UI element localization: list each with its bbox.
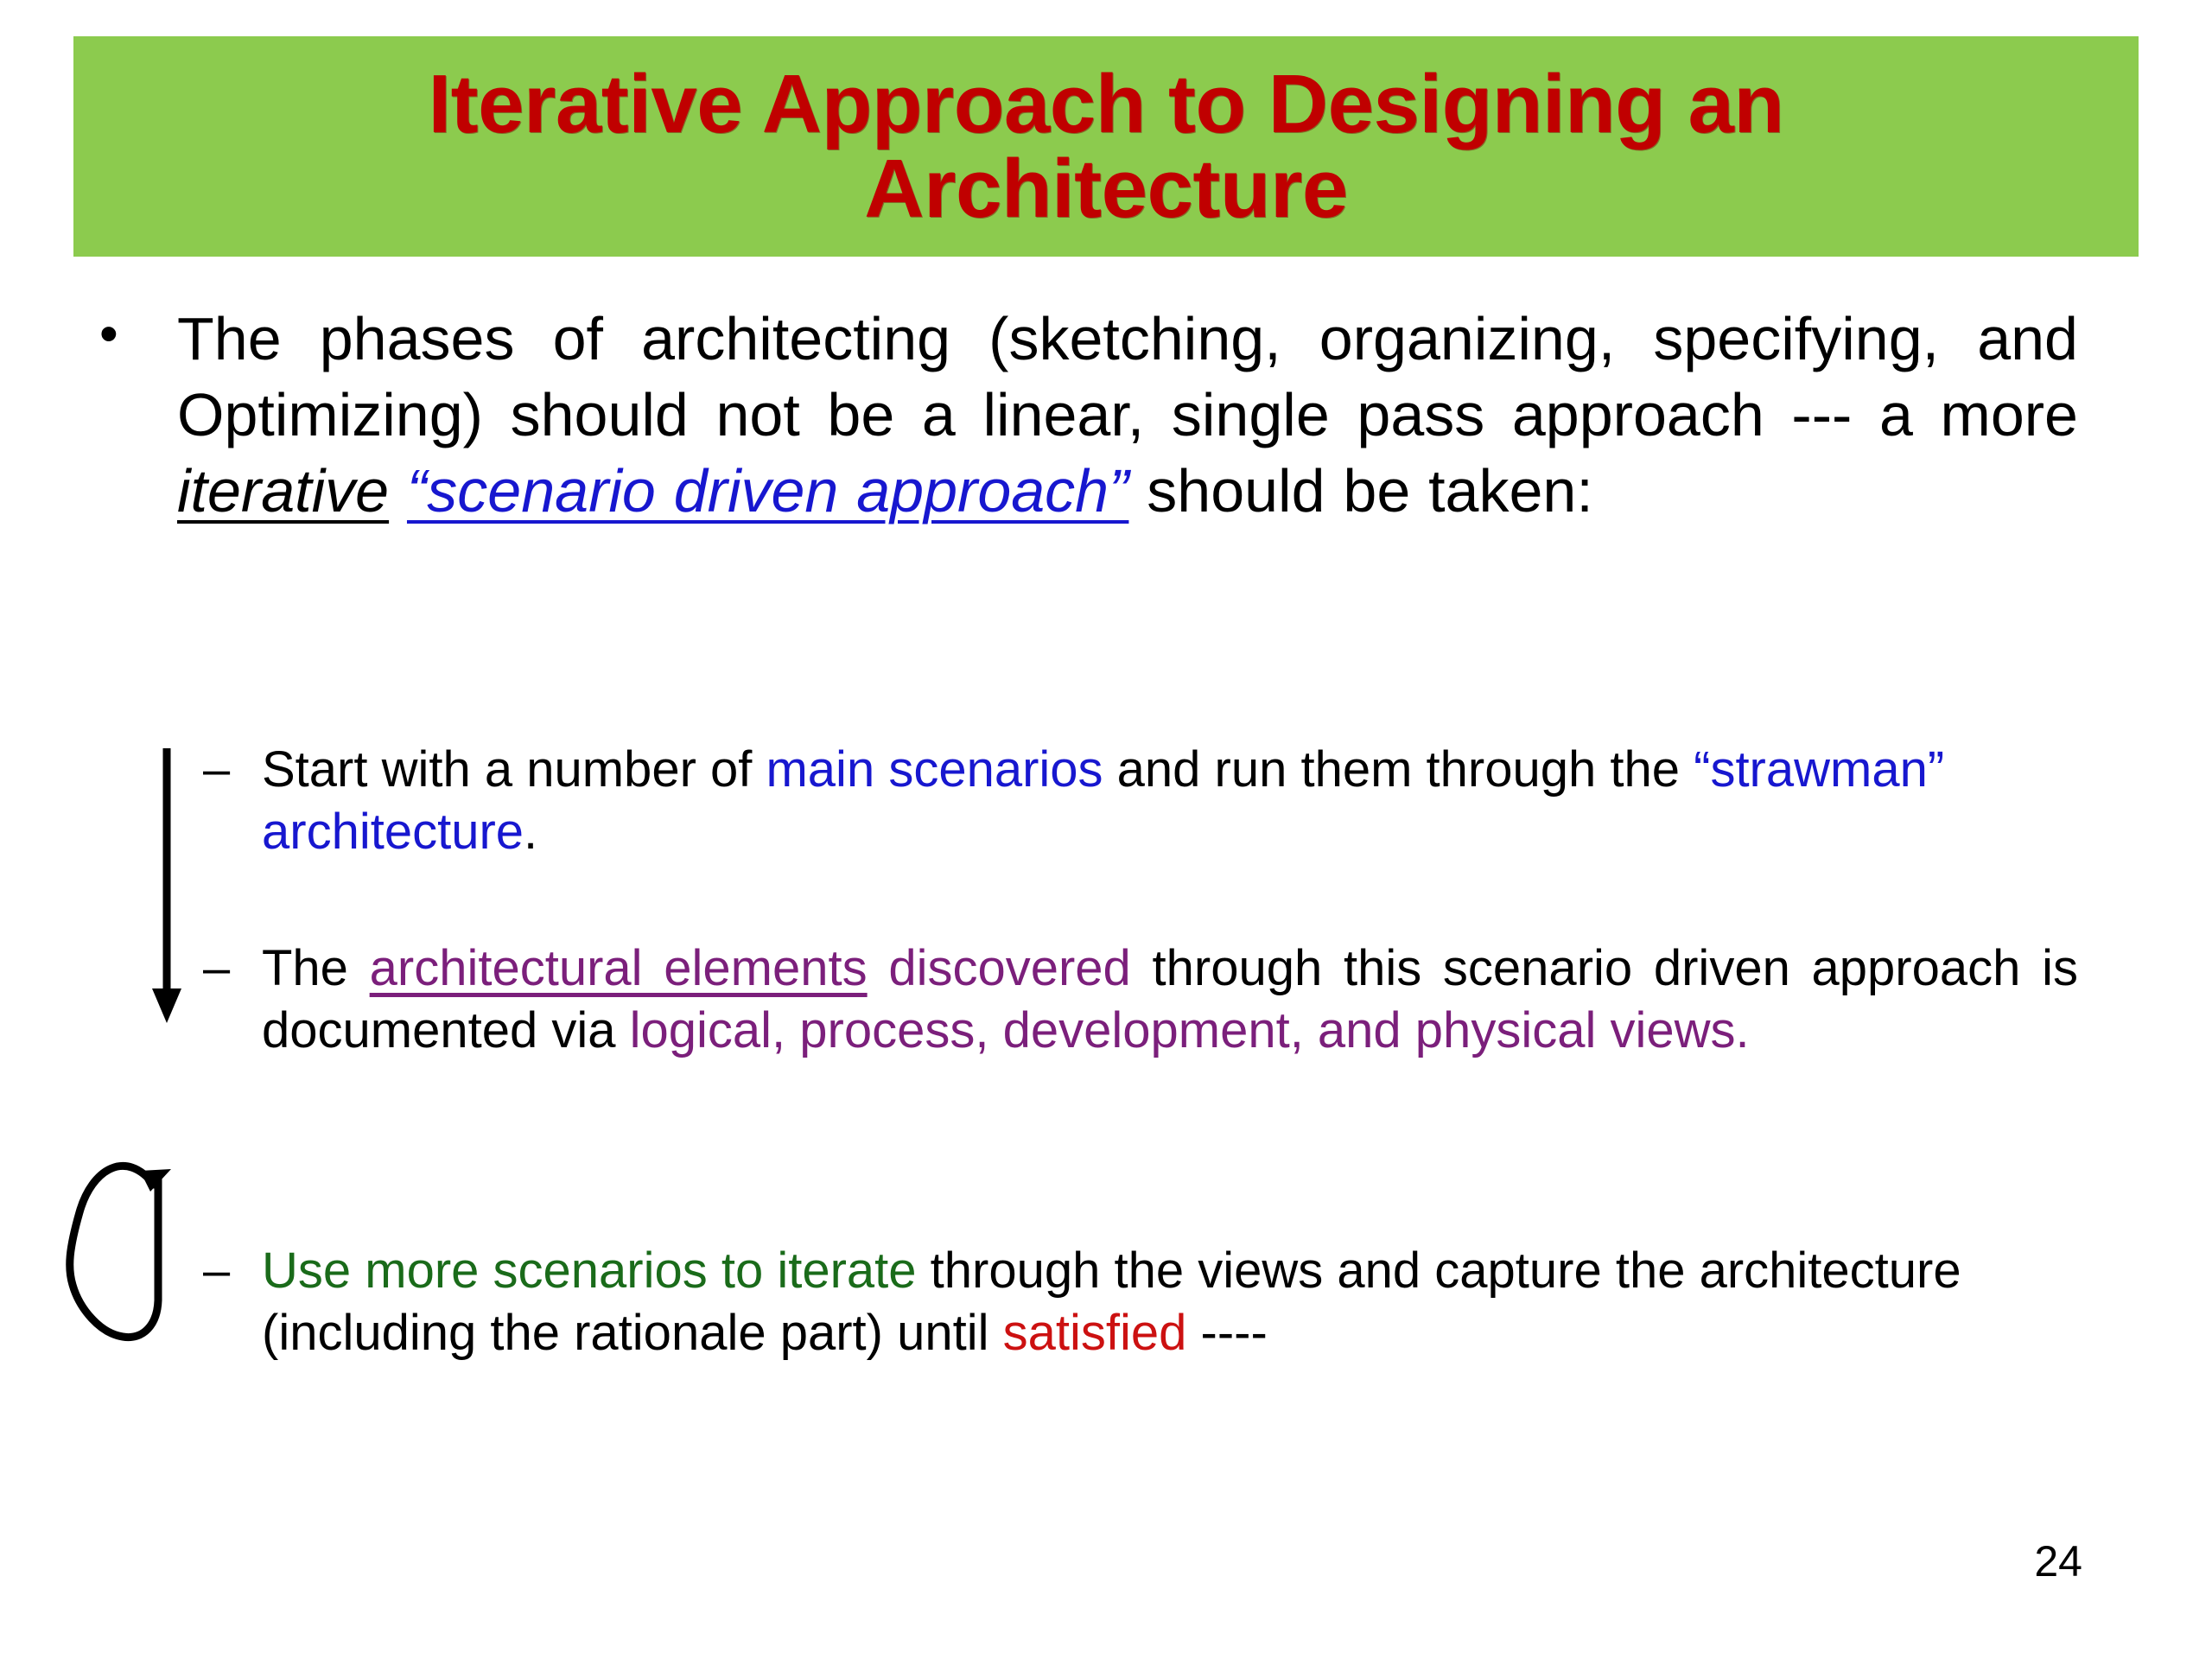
sub-bullet-3-text: Use more scenarios to iterate through th…: [262, 1240, 2078, 1364]
loop-arrow-icon: [60, 1145, 207, 1361]
sub2-segment-views-list: logical, process, development, and physi…: [630, 1002, 1750, 1058]
sub-bullet-item-2: – The architectural elements discovered …: [203, 938, 2078, 1062]
main-bullet-item: • The phases of architecting (sketching,…: [91, 301, 2078, 530]
sub3-segment-satisfied: satisfied: [1003, 1305, 1187, 1361]
page-title: Iterative Approach to Designing an Archi…: [220, 62, 1992, 232]
sub-bullet-2-text: The architectural elements discovered th…: [262, 938, 2078, 1062]
main-bullet-segment-iterative: iterative: [177, 457, 389, 524]
sub2-segment-discovered: discovered: [868, 940, 1131, 996]
page-number: 24: [2034, 1536, 2082, 1586]
main-bullet-segment-tail: should be taken:: [1128, 457, 1592, 524]
sub-bullet-1-text: Start with a number of main scenarios an…: [262, 739, 2078, 863]
sub2-segment-the: The: [262, 940, 370, 996]
main-bullet-segment-space: [389, 457, 407, 524]
sub3-segment-dashes: ----: [1186, 1305, 1267, 1361]
sub-bullet-marker: –: [203, 1240, 262, 1300]
sub-bullet-item-1: – Start with a number of main scenarios …: [203, 739, 2078, 863]
sub1-segment-1: Start with a number of: [262, 741, 766, 798]
sub-bullet-marker: –: [203, 739, 262, 798]
bullet-marker: •: [91, 301, 177, 368]
sub-bullet-marker: –: [203, 938, 262, 997]
sub2-segment-architectural-elements: architectural elements: [370, 940, 868, 996]
down-arrow-icon: [138, 745, 199, 1026]
main-bullet-text: The phases of architecting (sketching, o…: [177, 301, 2078, 530]
sub1-segment-2: and run them through the: [1103, 741, 1694, 798]
main-bullet-segment-1: The phases of architecting (sketching, o…: [177, 305, 2078, 448]
sub3-segment-use-more-scenarios-to-iterate: Use more scenarios to iterate: [262, 1243, 917, 1299]
sub-bullet-item-3: – Use more scenarios to iterate through …: [203, 1240, 2078, 1364]
main-bullet-segment-scenario-driven-approach: “scenario driven approach”: [407, 457, 1128, 524]
sub1-segment-main-scenarios: main scenarios: [766, 741, 1103, 798]
sub1-segment-period: .: [524, 804, 537, 860]
slide-title-banner: Iterative Approach to Designing an Archi…: [73, 36, 2139, 257]
